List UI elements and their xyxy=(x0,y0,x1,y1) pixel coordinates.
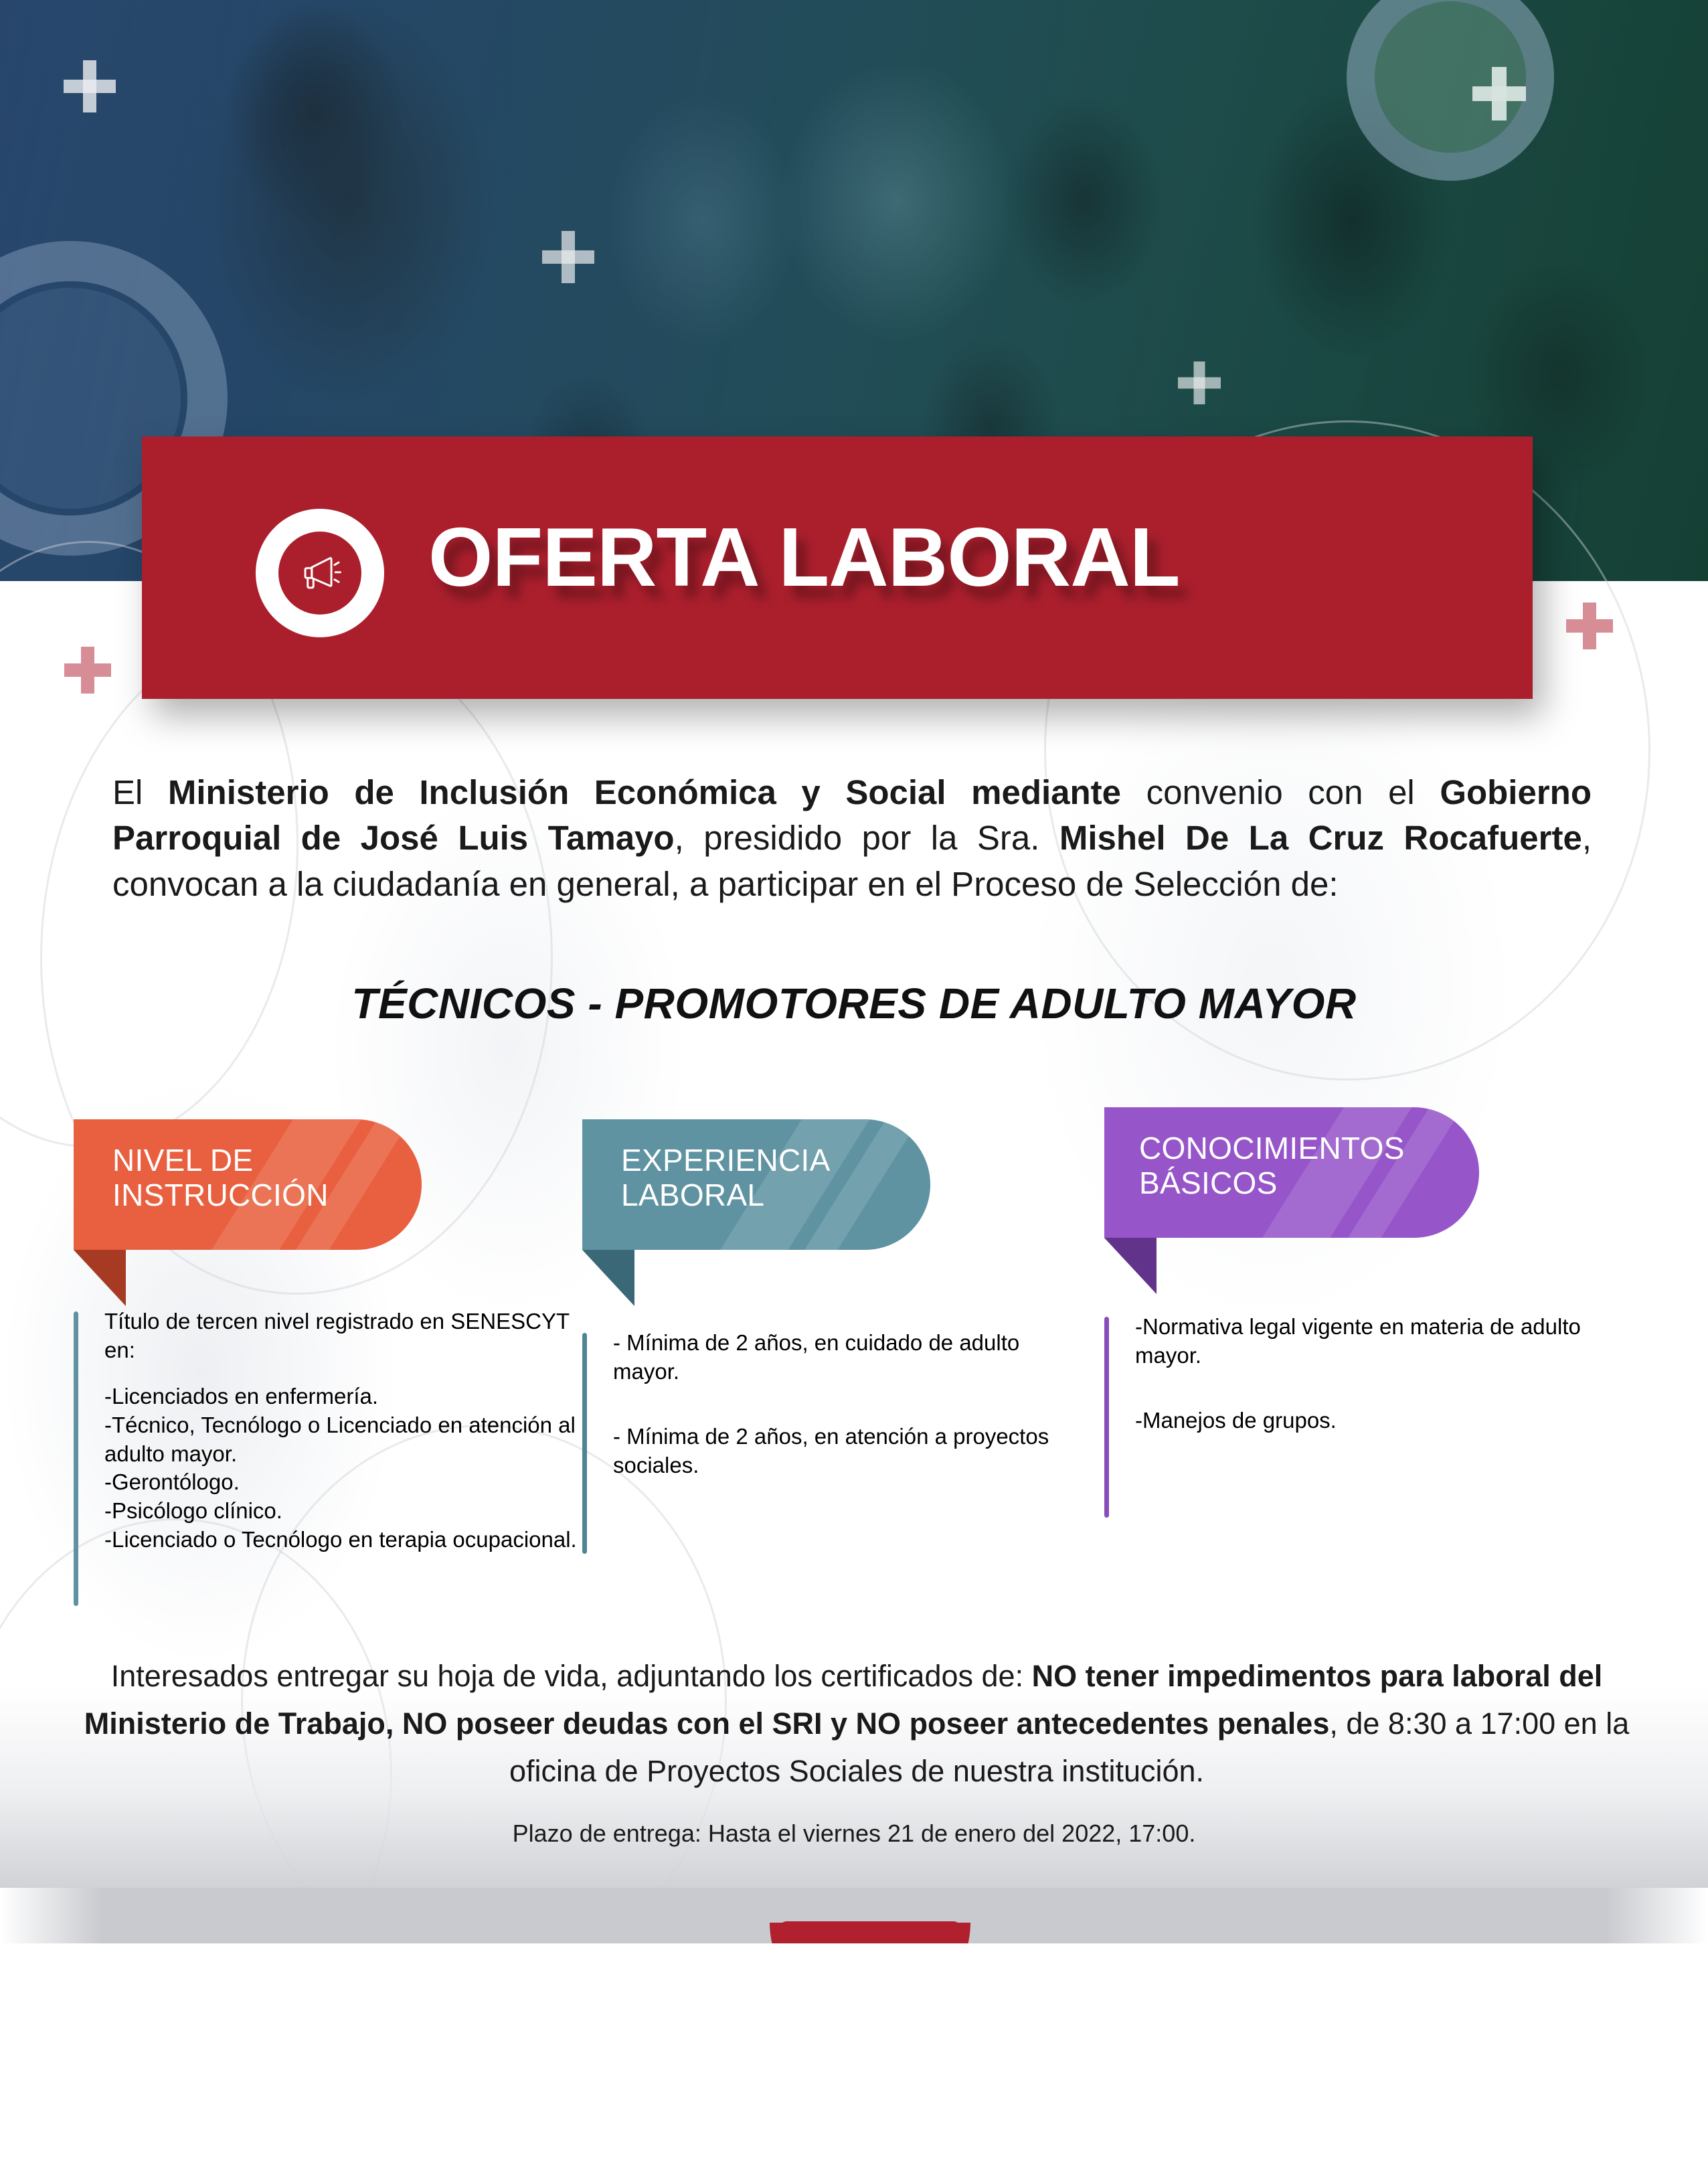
poster: OFERTA LABORAL El Ministerio de Inclusió… xyxy=(0,0,1708,2169)
requirements-cards: NIVEL DE INSTRUCCIÓN Título de tercen ni… xyxy=(0,1119,1708,1641)
card-1-fold xyxy=(74,1250,126,1306)
intro-bold-3: Mishel De La Cruz Rocafuerte xyxy=(1059,819,1582,857)
card-2-title: EXPERIENCIA LABORAL xyxy=(582,1119,930,1212)
card-1-item-3: -Gerontólogo. xyxy=(104,1468,582,1497)
card-2-body: - Mínima de 2 años, en cuidado de adulto… xyxy=(582,1329,1091,1480)
card-3-title: CONOCIMIENTOS BÁSICOS xyxy=(1104,1107,1479,1200)
card-1-title-line2: INSTRUCCIÓN xyxy=(112,1178,422,1213)
deadline-text: Plazo de entrega: Hasta el viernes 21 de… xyxy=(0,1820,1708,1848)
plus-icon-pink-1 xyxy=(64,647,111,694)
card-experiencia-laboral: EXPERIENCIA LABORAL - Mínima de 2 años, … xyxy=(582,1119,1091,1480)
plus-icon-3 xyxy=(1178,361,1221,404)
intro-part-2: convenio con el xyxy=(1121,773,1440,811)
card-2-rule xyxy=(582,1333,587,1554)
card-1-rule xyxy=(74,1311,78,1606)
megaphone-icon xyxy=(278,532,361,615)
card-3-title-line2: BÁSICOS xyxy=(1139,1166,1479,1201)
card-3-fold xyxy=(1104,1238,1157,1294)
banner-title: OFERTA LABORAL xyxy=(428,510,1180,605)
card-1-tag: NIVEL DE INSTRUCCIÓN xyxy=(74,1119,422,1250)
card-3-item-0: -Normativa legal vigente en materia de a… xyxy=(1135,1313,1613,1370)
intro-bold-1: Ministerio de Inclusión Económica y Soci… xyxy=(168,773,1121,811)
card-3-item-1: -Manejos de grupos. xyxy=(1135,1407,1613,1435)
card-2-fold xyxy=(582,1250,634,1306)
plus-icon-pink-2 xyxy=(1566,602,1613,649)
intro-part-3: , presidido por la Sra. xyxy=(675,819,1059,857)
card-2-item-1: - Mínima de 2 años, en atención a proyec… xyxy=(613,1423,1091,1480)
footer: # Mishel DeLaCruz PRESIDENTA Muey no se … xyxy=(0,1943,1708,2169)
card-1-body: Título de tercen nivel registrado en SEN… xyxy=(74,1307,582,1554)
notice-part-1: Interesados entregar su hoja de vida, ad… xyxy=(111,1659,1032,1693)
card-1-title: NIVEL DE INSTRUCCIÓN xyxy=(74,1119,422,1212)
notice-paragraph: Interesados entregar su hoja de vida, ad… xyxy=(80,1652,1633,1795)
card-1-item-0: Título de tercen nivel registrado en SEN… xyxy=(104,1307,582,1365)
card-nivel-de-instruccion: NIVEL DE INSTRUCCIÓN Título de tercen ni… xyxy=(74,1119,582,1554)
intro-part-1: El xyxy=(112,773,168,811)
plus-icon-1 xyxy=(64,60,116,112)
megaphone-icon-wrap xyxy=(256,509,384,637)
card-1-item-1: -Licenciados en enfermería. xyxy=(104,1382,582,1411)
card-2-title-line1: EXPERIENCIA xyxy=(621,1143,930,1178)
intro-paragraph: El Ministerio de Inclusión Económica y S… xyxy=(112,770,1592,907)
plus-icon-4 xyxy=(1472,67,1526,120)
card-2-tag: EXPERIENCIA LABORAL xyxy=(582,1119,930,1250)
card-3-tag: CONOCIMIENTOS BÁSICOS xyxy=(1104,1107,1479,1238)
card-2-title-line2: LABORAL xyxy=(621,1178,930,1213)
plus-icon-2 xyxy=(542,231,594,283)
card-1-item-2: -Técnico, Tecnólogo o Licenciado en aten… xyxy=(104,1411,582,1469)
card-3-title-line1: CONOCIMIENTOS xyxy=(1139,1131,1479,1166)
card-3-body: -Normativa legal vigente en materia de a… xyxy=(1104,1313,1613,1435)
job-title: TÉCNICOS - PROMOTORES DE ADULTO MAYOR xyxy=(0,979,1708,1028)
card-conocimientos-basicos: CONOCIMIENTOS BÁSICOS -Normativa legal v… xyxy=(1104,1107,1613,1435)
card-3-rule xyxy=(1104,1317,1109,1518)
card-2-item-0: - Mínima de 2 años, en cuidado de adulto… xyxy=(613,1329,1091,1386)
card-1-item-5: -Licenciado o Tecnólogo en terapia ocupa… xyxy=(104,1526,582,1554)
card-1-title-line1: NIVEL DE xyxy=(112,1143,422,1178)
card-1-item-4: -Psicólogo clínico. xyxy=(104,1497,582,1526)
